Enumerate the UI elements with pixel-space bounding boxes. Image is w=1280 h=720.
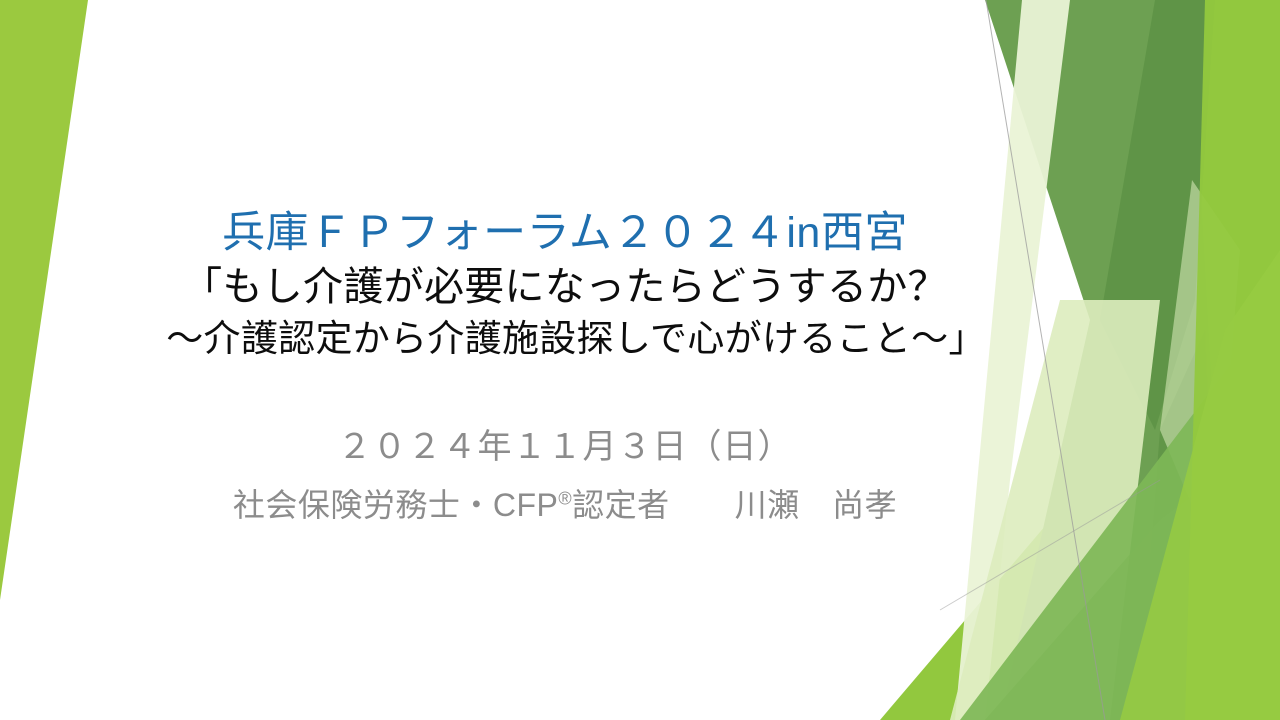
presenter-credential-suffix: 認定者 <box>572 487 670 523</box>
right-edge-bright-overlay <box>1185 0 1280 720</box>
title-line-3: ～介護認定から介護施設探しで心がけること～」 <box>110 313 1020 365</box>
right-light-tint-wedge-upper <box>1160 180 1240 560</box>
right-mid-green-band <box>985 0 1230 720</box>
title-text-block: 兵庫ＦＰフォーラム２０２４in西宮 「もし介護が必要になったらどうするか？ ～介… <box>110 205 1020 365</box>
right-bright-panel <box>1000 0 1280 720</box>
subtitle-text-block: ２０２４年１１月３日（日） 社会保険労務士・CFP®認定者 川瀬 尚孝 <box>110 418 1020 534</box>
bottom-soft-green-wedge-tail <box>985 430 1280 720</box>
right-deep-green-lower-notch <box>1150 330 1215 560</box>
presenter-spacer <box>670 487 735 523</box>
title-slide: 兵庫ＦＰフォーラム２０２４in西宮 「もし介護が必要になったらどうするか？ ～介… <box>0 0 1280 720</box>
left-green-wedge <box>0 0 88 600</box>
presenter-name: 川瀬 尚孝 <box>735 487 898 523</box>
title-line-2: 「もし介護が必要になったらどうするか？ <box>110 261 1020 313</box>
subtitle-date: ２０２４年１１月３日（日） <box>110 418 1020 476</box>
right-edge-bright-overlay-2 <box>1120 250 1280 720</box>
title-line-1: 兵庫ＦＰフォーラム２０２４in西宮 <box>110 205 1020 261</box>
registered-trademark-icon: ® <box>558 488 572 508</box>
right-deep-green-arrow <box>1100 0 1215 430</box>
subtitle-presenter: 社会保険労務士・CFP®認定者 川瀬 尚孝 <box>110 476 1020 534</box>
presenter-credential-prefix: 社会保険労務士・CFP <box>233 487 559 523</box>
